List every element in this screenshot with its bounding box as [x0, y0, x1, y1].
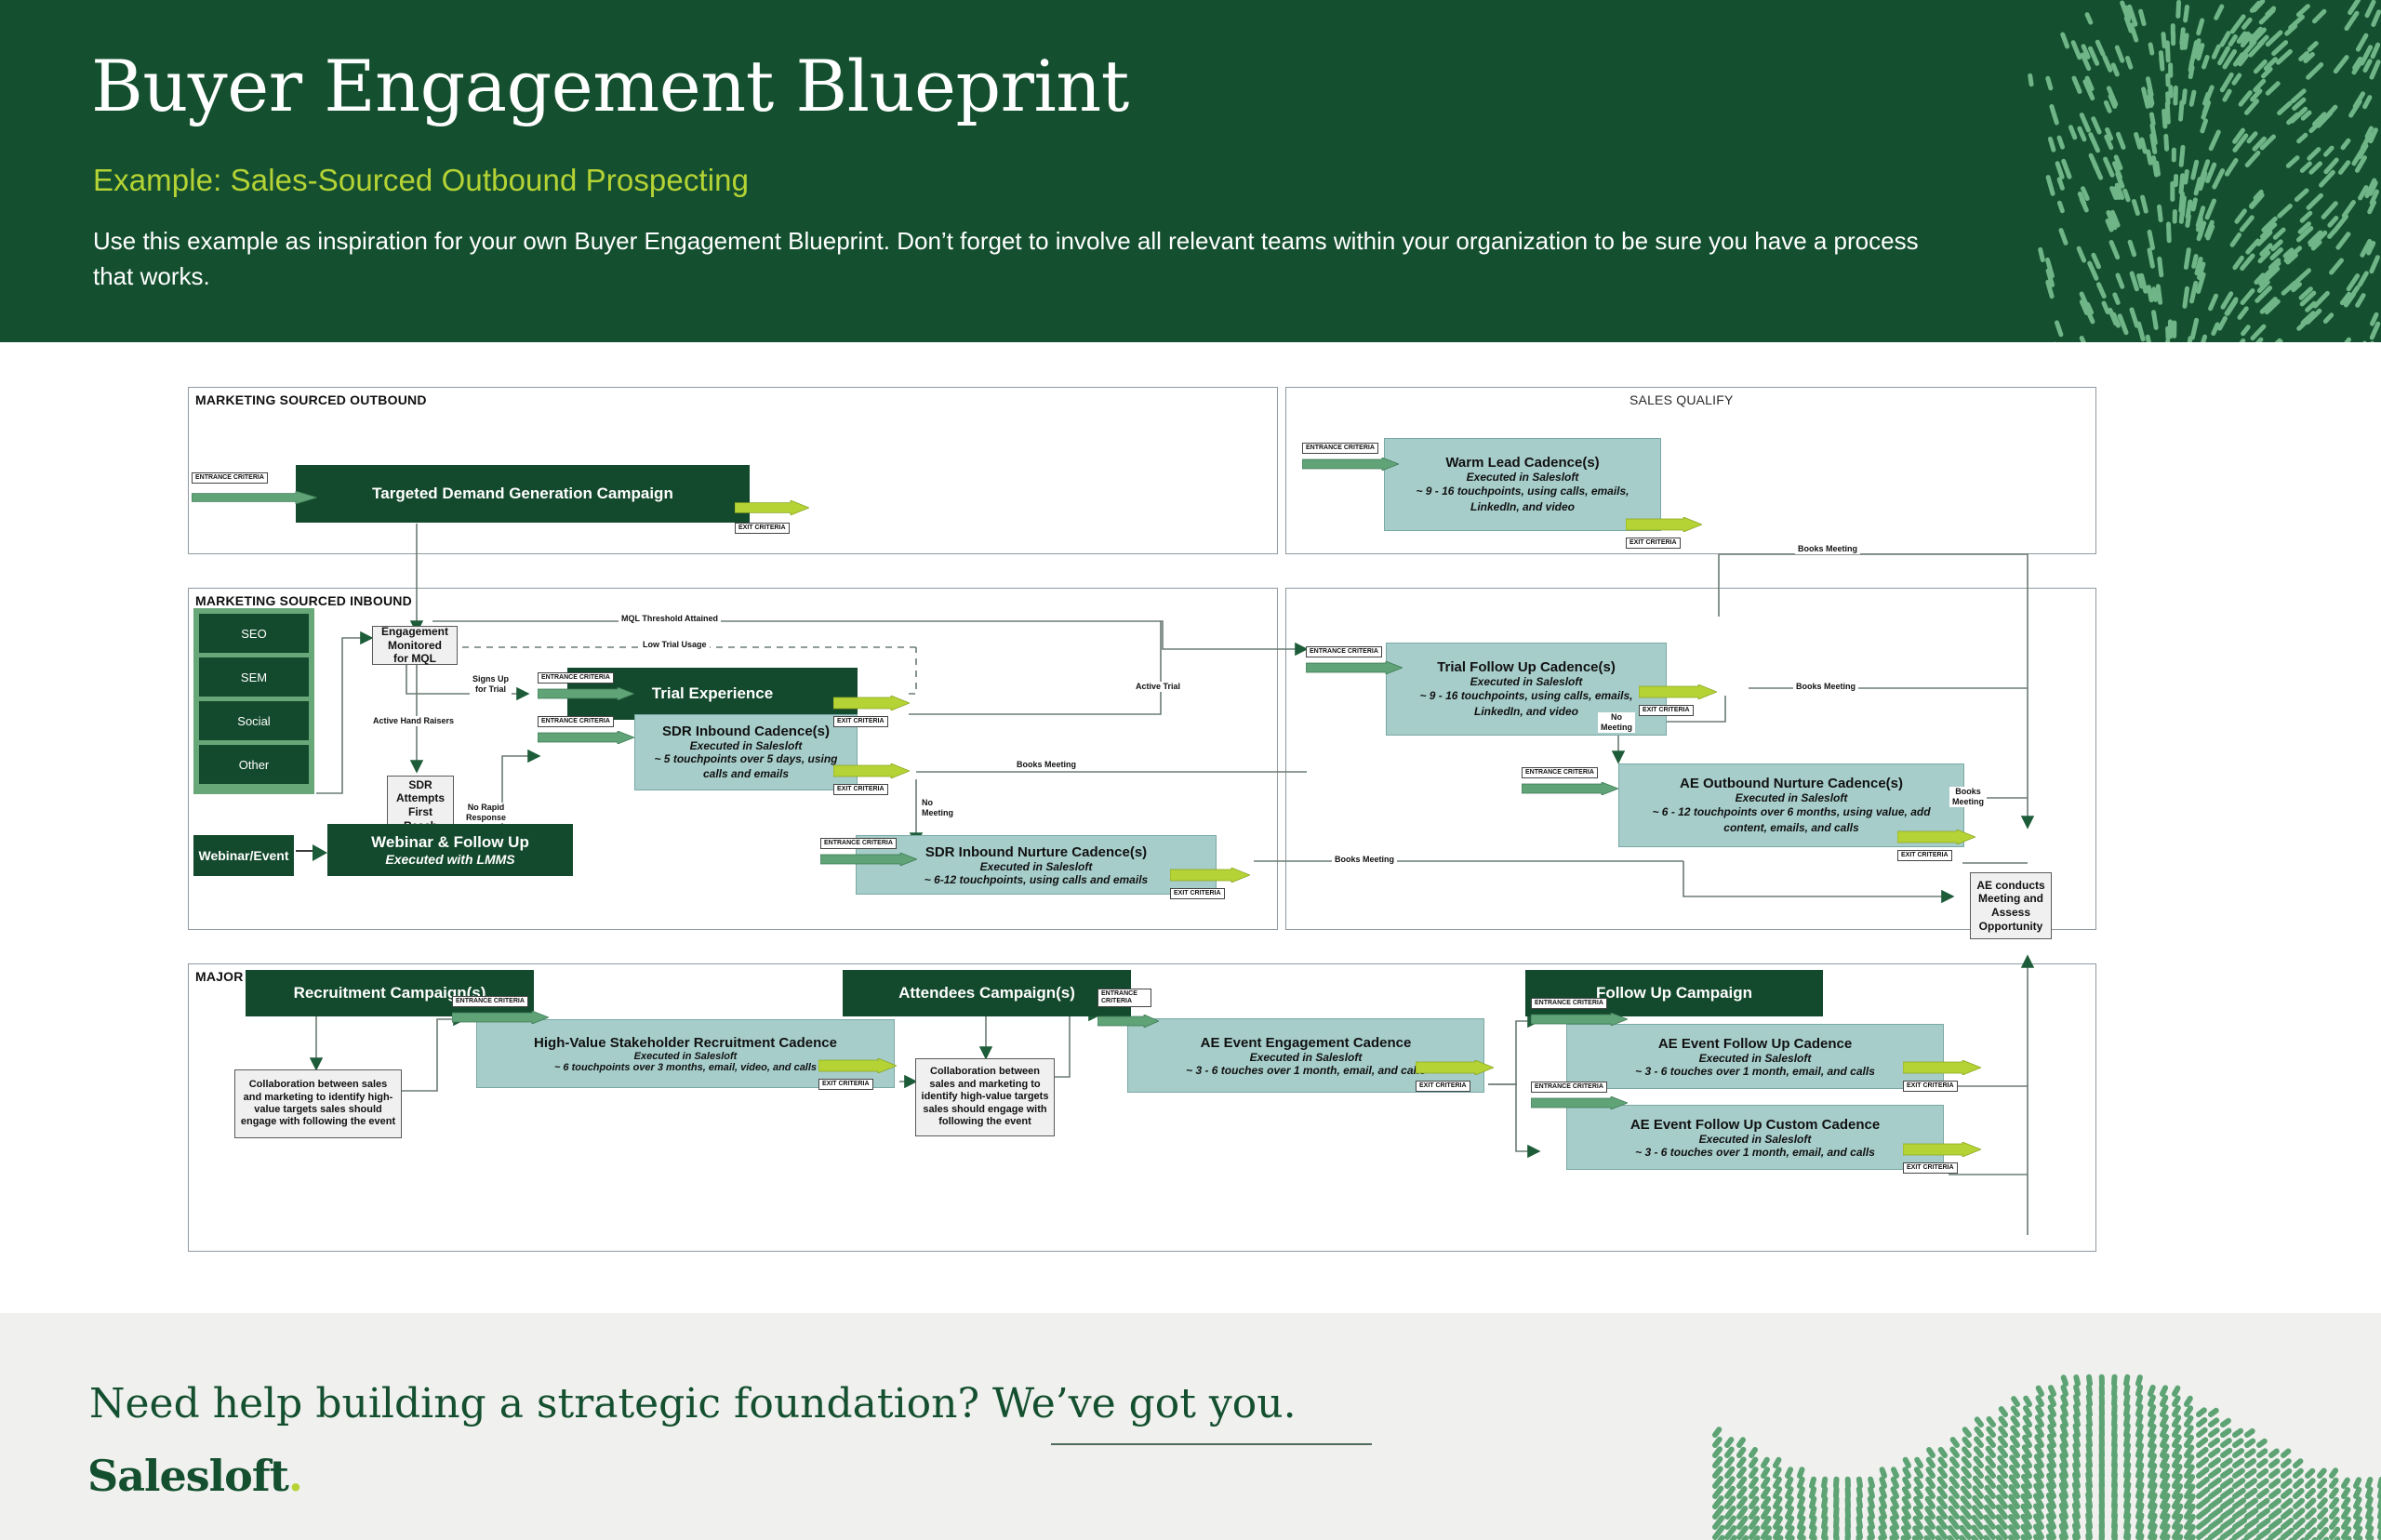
logo-text: Salesloft — [87, 1451, 288, 1501]
entrance-criteria-label: ENTRANCE CRITERIA — [1306, 646, 1382, 657]
exit-criteria-sdr-inbound[interactable]: EXIT CRITERIA — [833, 763, 910, 795]
cadence-ae-event-follow-up-custom[interactable]: AE Event Follow Up Custom Cadence Execut… — [1566, 1105, 1944, 1170]
connector-label-books-meeting-warm: Books Meeting — [1795, 544, 1860, 554]
channel-sem[interactable]: SEM — [199, 657, 309, 697]
entrance-arrow-icon — [1531, 1096, 1628, 1109]
entrance-arrow-icon — [1522, 782, 1618, 795]
cadence-warm-lead[interactable]: Warm Lead Cadence(s) Executed in Saleslo… — [1384, 438, 1661, 531]
cadence-ae-event-follow-up[interactable]: AE Event Follow Up Cadence Executed in S… — [1566, 1024, 1944, 1089]
exit-criteria-label: EXIT CRITERIA — [1416, 1081, 1470, 1092]
block-label: Targeted Demand Generation Campaign — [372, 485, 673, 503]
entrance-criteria-sdr-inbound[interactable]: ENTRANCE CRITERIA — [538, 716, 634, 744]
cadence-detail: ~ 6 touchpoints over 3 months, email, vi… — [554, 1062, 817, 1073]
entrance-criteria-label: ENTRANCE CRITERIA — [538, 672, 614, 684]
exit-criteria-targeted-demand[interactable]: EXIT CRITERIA — [735, 500, 809, 534]
exit-criteria-ae-event-follow-up[interactable]: EXIT CRITERIA — [1903, 1060, 1981, 1092]
cadence-detail: ~ 3 - 6 touches over 1 month, email, and… — [1635, 1065, 1875, 1078]
cadence-title: SDR Inbound Nurture Cadence(s) — [925, 844, 1147, 860]
connector-label-low-trial-usage: Low Trial Usage — [640, 640, 710, 650]
entrance-criteria-ae-event-engagement[interactable]: ENTRANCECRITERIA — [1097, 989, 1159, 1028]
block-label: Trial Experience — [652, 684, 773, 703]
process-collaboration-recruitment[interactable]: Collaboration between sales and marketin… — [234, 1069, 402, 1138]
page-header: Buyer Engagement Blueprint Example: Sale… — [0, 0, 2381, 342]
footer-underline — [1051, 1443, 1372, 1445]
exit-arrow-icon — [1903, 1142, 1981, 1157]
process-engagement-monitored[interactable]: Engagement Monitored for MQL — [372, 626, 458, 665]
process-ae-conducts-meeting[interactable]: AE conducts Meeting and Assess Opportuni… — [1970, 872, 2052, 939]
cadence-title: AE Event Follow Up Custom Cadence — [1630, 1117, 1880, 1133]
cadence-detail: ~ 6-12 touchpoints, using calls and emai… — [924, 873, 1148, 886]
exit-criteria-label: EXIT CRITERIA — [833, 784, 888, 795]
process-label: Collaboration between sales and marketin… — [921, 1066, 1049, 1128]
entrance-line-1: ENTRANCE — [1101, 990, 1137, 997]
exit-arrow-icon — [1416, 1060, 1494, 1075]
salesloft-logo: Salesloft. — [87, 1451, 302, 1501]
entrance-criteria-label: ENTRANCE CRITERIA — [538, 716, 614, 727]
entrance-arrow-icon — [820, 853, 917, 866]
entrance-criteria-sdr-inbound-nurture[interactable]: ENTRANCE CRITERIA — [820, 838, 917, 866]
cadence-title: AE Event Follow Up Cadence — [1658, 1036, 1852, 1052]
process-label: AE conducts Meeting and Assess Opportuni… — [1976, 879, 2044, 934]
entrance-criteria-label: ENTRANCE CRITERIA — [1531, 1082, 1607, 1093]
cadence-sub: Executed in Salesloft — [1470, 675, 1583, 688]
block-label: Webinar & Follow Up — [371, 833, 529, 852]
entrance-arrow-icon — [192, 491, 317, 504]
page-title: Buyer Engagement Blueprint — [91, 45, 1129, 127]
process-label: Engagement Monitored for MQL — [381, 625, 448, 666]
exit-criteria-label: EXIT CRITERIA — [1639, 705, 1694, 716]
exit-arrow-icon — [1170, 868, 1250, 883]
exit-criteria-trial-follow-up[interactable]: EXIT CRITERIA — [1639, 684, 1717, 716]
exit-criteria-trial-experience[interactable]: EXIT CRITERIA — [833, 696, 910, 727]
entrance-criteria-trial-experience[interactable]: ENTRANCE CRITERIA — [538, 672, 634, 700]
exit-criteria-label: EXIT CRITERIA — [1903, 1081, 1958, 1092]
cadence-title: SDR Inbound Cadence(s) — [662, 724, 830, 739]
cadence-sub: Executed in Salesloft — [1250, 1051, 1363, 1064]
cadence-detail: ~ 5 touchpoints over 5 days, using calls… — [646, 752, 845, 782]
connector-label-books-meeting-trial: Books Meeting — [1793, 682, 1858, 692]
connector-label-no-meeting-sdr: No Meeting — [919, 798, 956, 818]
entrance-criteria-label: ENTRANCE CRITERIA — [452, 996, 528, 1007]
entrance-arrow-icon — [452, 1011, 549, 1024]
exit-criteria-high-value-stakeholder[interactable]: EXIT CRITERIA — [818, 1058, 897, 1090]
entrance-arrow-icon — [1531, 1013, 1628, 1026]
entrance-arrow-icon — [538, 687, 634, 700]
connector-label-no-meeting-trial: No Meeting — [1598, 712, 1635, 733]
blueprint-diagram: MARKETING SOURCED OUTBOUND MARKETING SOU… — [0, 342, 2381, 1313]
cadence-title: Trial Follow Up Cadence(s) — [1437, 659, 1616, 675]
footer-decoration-pattern — [1711, 1313, 2381, 1540]
entrance-arrow-icon — [1306, 661, 1403, 674]
cadence-sub: Executed in Salesloft — [980, 860, 1093, 873]
entrance-criteria-ae-event-follow-up-custom[interactable]: ENTRANCE CRITERIA — [1531, 1082, 1628, 1109]
cadence-sub: Executed in Salesloft — [634, 1051, 738, 1062]
exit-arrow-icon — [1626, 517, 1702, 532]
entrance-criteria-label: ENTRANCE CRITERIA — [820, 838, 897, 849]
cadence-sub: Executed in Salesloft — [690, 739, 803, 752]
process-collaboration-attendees[interactable]: Collaboration between sales and marketin… — [915, 1058, 1055, 1136]
exit-arrow-icon — [1639, 684, 1717, 699]
cadence-title: Warm Lead Cadence(s) — [1445, 455, 1599, 471]
exit-arrow-icon — [1903, 1060, 1981, 1075]
cadence-title: AE Event Engagement Cadence — [1201, 1035, 1412, 1051]
channel-social[interactable]: Social — [199, 701, 309, 740]
entrance-criteria-high-value-stakeholder[interactable]: ENTRANCE CRITERIA — [452, 996, 549, 1024]
cadence-detail: ~ 3 - 6 touches over 1 month, email, and… — [1186, 1064, 1426, 1077]
exit-arrow-icon — [735, 500, 809, 515]
exit-criteria-warm-lead[interactable]: EXIT CRITERIA — [1626, 517, 1702, 549]
connector-label-mql-threshold: MQL Threshold Attained — [619, 614, 721, 624]
block-attendees-campaign[interactable]: Attendees Campaign(s) — [843, 970, 1131, 1016]
channel-other[interactable]: Other — [199, 745, 309, 784]
entrance-criteria-ae-outbound-nurture[interactable]: ENTRANCE CRITERIA — [1522, 767, 1618, 795]
page-description: Use this example as inspiration for your… — [93, 223, 1962, 295]
entrance-criteria-label: ENTRANCE CRITERIA — [1531, 998, 1607, 1009]
exit-criteria-label: EXIT CRITERIA — [833, 716, 888, 727]
block-label: Webinar/Event — [199, 848, 289, 863]
entrance-criteria-warm-lead[interactable]: ENTRANCE CRITERIA — [1302, 443, 1399, 471]
entrance-criteria-label: ENTRANCECRITERIA — [1097, 989, 1151, 1007]
arrow-webinar-icon — [296, 844, 327, 861]
cadence-sdr-inbound[interactable]: SDR Inbound Cadence(s) Executed in Sales… — [634, 714, 858, 790]
entrance-line-2: CRITERIA — [1101, 998, 1132, 1004]
cadence-title: AE Outbound Nurture Cadence(s) — [1680, 776, 1903, 791]
block-webinar-event[interactable]: Webinar/Event — [193, 835, 294, 876]
exit-criteria-label: EXIT CRITERIA — [1903, 1162, 1958, 1174]
exit-arrow-icon — [818, 1058, 897, 1073]
exit-criteria-label: EXIT CRITERIA — [735, 523, 790, 534]
cadence-title: High-Value Stakeholder Recruitment Caden… — [534, 1035, 837, 1051]
process-label: Collaboration between sales and marketin… — [240, 1079, 396, 1129]
block-sub: Executed with LMMS — [385, 852, 514, 867]
exit-criteria-sdr-inbound-nurture[interactable]: EXIT CRITERIA — [1170, 868, 1250, 899]
exit-criteria-label: EXIT CRITERIA — [1626, 538, 1681, 549]
page-footer: Need help building a strategic foundatio… — [0, 1313, 2381, 1540]
entrance-criteria-label: ENTRANCE CRITERIA — [1522, 767, 1598, 778]
block-label: Attendees Campaign(s) — [898, 984, 1075, 1002]
connector-label-no-rapid-response: No Rapid Response — [463, 803, 509, 823]
entrance-criteria-label: ENTRANCE CRITERIA — [1302, 443, 1378, 454]
cadence-sub: Executed in Salesloft — [1699, 1133, 1812, 1146]
logo-dot: . — [288, 1451, 302, 1501]
cadence-detail: ~ 3 - 6 touches over 1 month, email, and… — [1635, 1146, 1875, 1159]
cadence-sub: Executed in Salesloft — [1699, 1052, 1812, 1065]
channel-group: SEO SEM Social Other — [193, 608, 314, 794]
entrance-arrow-icon — [538, 731, 634, 744]
cadence-detail: ~ 9 - 16 touchpoints, using calls, email… — [1398, 484, 1647, 513]
entrance-criteria-ae-event-follow-up[interactable]: ENTRANCE CRITERIA — [1531, 998, 1628, 1026]
connector-label-active-trial: Active Trial — [1133, 682, 1183, 692]
entrance-criteria-targeted-demand[interactable]: ENTRANCE CRITERIA — [192, 472, 317, 504]
connector-label-active-hand-raisers: Active Hand Raisers — [370, 716, 457, 726]
exit-criteria-label: EXIT CRITERIA — [818, 1079, 873, 1090]
exit-criteria-label: EXIT CRITERIA — [1897, 850, 1952, 861]
connector-label-books-meeting-sdr: Books Meeting — [1014, 760, 1079, 770]
entrance-criteria-label: ENTRANCE CRITERIA — [192, 472, 268, 484]
exit-criteria-ae-outbound-nurture[interactable]: EXIT CRITERIA — [1897, 830, 1975, 861]
exit-arrow-icon — [833, 696, 910, 710]
block-webinar-follow-up[interactable]: Webinar & Follow Up Executed with LMMS — [327, 824, 573, 876]
connector-label-signs-up-for-trial: Signs Up for Trial — [470, 674, 512, 695]
entrance-criteria-trial-follow-up[interactable]: ENTRANCE CRITERIA — [1306, 646, 1403, 674]
entrance-arrow-icon — [1097, 1015, 1159, 1028]
block-targeted-demand-generation[interactable]: Targeted Demand Generation Campaign — [296, 465, 750, 523]
exit-criteria-label: EXIT CRITERIA — [1170, 888, 1225, 899]
exit-arrow-icon — [833, 763, 910, 778]
page-subtitle: Example: Sales-Sourced Outbound Prospect… — [93, 163, 749, 198]
cadence-sub: Executed in Salesloft — [1467, 471, 1579, 484]
header-decoration-pattern — [1990, 0, 2381, 342]
footer-headline: Need help building a strategic foundatio… — [89, 1380, 1297, 1427]
exit-criteria-ae-event-engagement[interactable]: EXIT CRITERIA — [1416, 1060, 1494, 1092]
exit-criteria-ae-event-follow-up-custom[interactable]: EXIT CRITERIA — [1903, 1142, 1981, 1174]
cadence-sub: Executed in Salesloft — [1736, 791, 1848, 804]
entrance-arrow-icon — [1302, 458, 1399, 471]
connector-label-books-meeting-ae: Books Meeting — [1949, 787, 1987, 807]
exit-arrow-icon — [1897, 830, 1975, 844]
channel-seo[interactable]: SEO — [199, 614, 309, 653]
connector-label-books-meeting-nurture: Books Meeting — [1332, 855, 1397, 865]
